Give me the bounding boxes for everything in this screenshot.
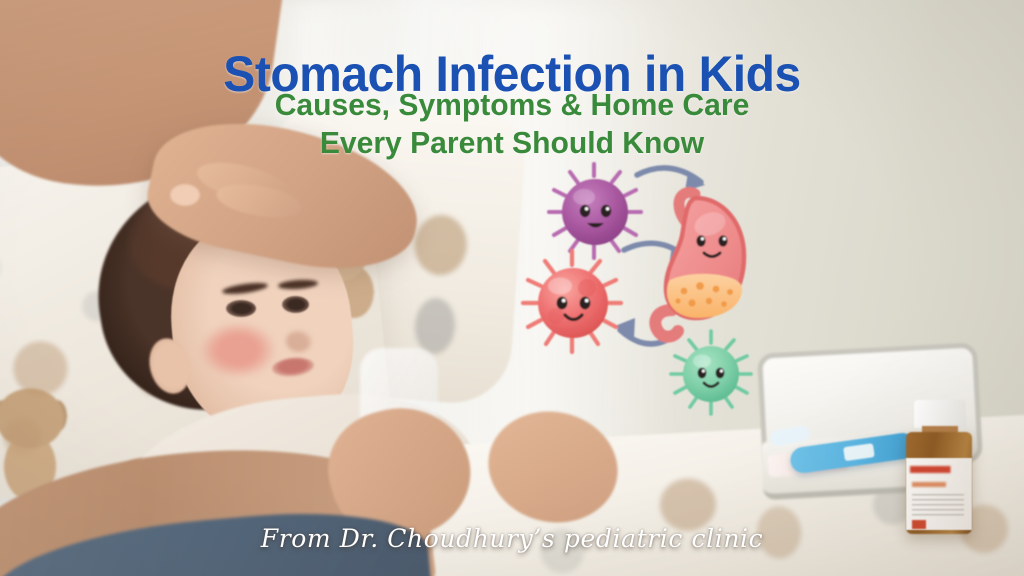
- germ-green-icon: [671, 331, 751, 414]
- germ-red-icon: [523, 251, 621, 352]
- clinic-credit-caption: From Dr. Choudhury’s pediatric clinic: [0, 524, 1024, 553]
- smiling-stomach-icon: [655, 192, 744, 336]
- page-subtitle: Causes, Symptoms & Home Care Every Paren…: [15, 86, 1008, 162]
- flow-arrow-icon-1: [637, 168, 705, 191]
- subtitle-line-1: Causes, Symptoms & Home Care: [275, 87, 750, 122]
- poster-canvas: Stomach Infection in Kids Causes, Sympto…: [0, 0, 1024, 576]
- germ-purple-icon: [549, 164, 641, 258]
- subtitle-line-2: Every Parent Should Know: [15, 124, 1008, 162]
- germ-stomach-illustration: [520, 150, 820, 430]
